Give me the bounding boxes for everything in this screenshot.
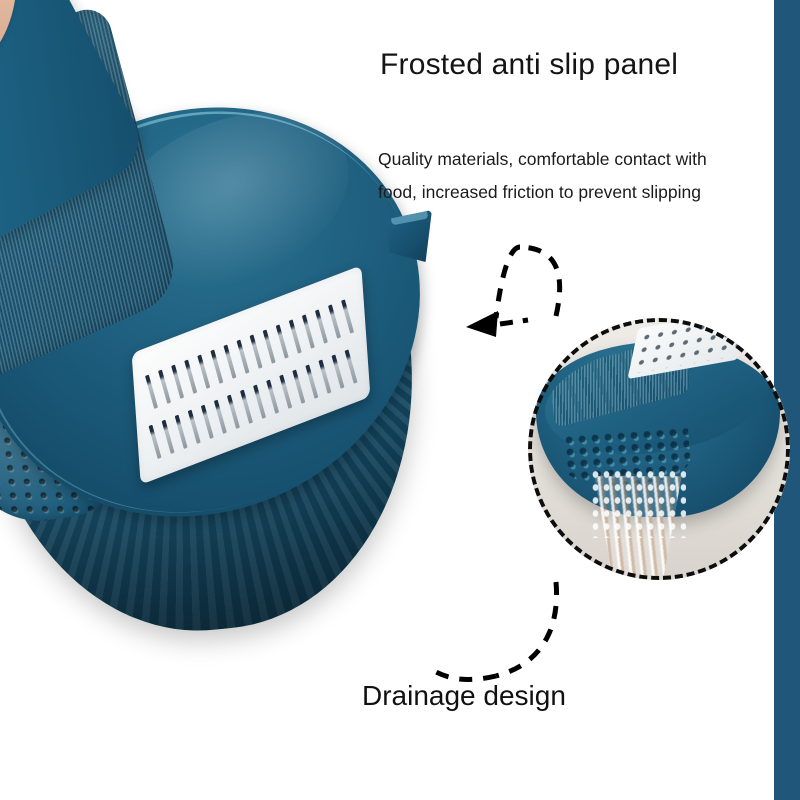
blade-pin xyxy=(158,370,171,404)
blade-pin xyxy=(315,309,328,343)
subtitle-line-2: food, increased friction to prevent slip… xyxy=(378,176,758,209)
blade-pin xyxy=(345,349,358,383)
blade-pin xyxy=(188,410,201,444)
blade-pin xyxy=(184,360,197,394)
blade-pin xyxy=(266,380,279,414)
blade-pin xyxy=(227,395,240,429)
blade-pin xyxy=(292,369,305,403)
blade-pin xyxy=(223,345,236,379)
blade-pin xyxy=(210,350,223,384)
blade-pin xyxy=(332,354,345,388)
blade-pin xyxy=(305,364,318,398)
blade-pin xyxy=(276,324,289,358)
blade-pin xyxy=(341,299,354,333)
page-subtitle: Quality materials, comfortable contact w… xyxy=(378,143,758,209)
blade-pin xyxy=(279,375,292,409)
callout-curve-top xyxy=(520,247,560,316)
blade-pin xyxy=(145,375,158,409)
drainage-closeup-inset xyxy=(528,318,790,580)
blade-pin xyxy=(197,355,210,389)
callout-curve-bottom xyxy=(496,582,557,676)
inset-dashed-ring xyxy=(528,318,790,580)
drainage-caption: Drainage design xyxy=(362,680,566,712)
arrow-tail xyxy=(500,320,528,324)
product-photo xyxy=(0,0,500,680)
subtitle-line-1: Quality materials, comfortable contact w… xyxy=(378,143,758,176)
blade-pin xyxy=(328,304,341,338)
blade-pin xyxy=(201,405,214,439)
blade-pin xyxy=(253,385,266,419)
product-infographic: Frosted anti slip panel Quality material… xyxy=(0,0,800,800)
page-title: Frosted anti slip panel xyxy=(380,48,678,82)
blade-pin xyxy=(162,420,175,454)
blade-pin xyxy=(250,334,263,368)
blade-pin xyxy=(240,390,253,424)
blade-pin xyxy=(289,319,302,353)
blade-pin xyxy=(171,365,184,399)
blade-pin xyxy=(318,359,331,393)
finger xyxy=(0,0,32,69)
hand-holding-product xyxy=(0,0,84,112)
blade-pin xyxy=(263,329,276,363)
blade-pin xyxy=(214,400,227,434)
blade-pin xyxy=(237,339,250,373)
blade-pin xyxy=(175,415,188,449)
blade-pin xyxy=(302,314,315,348)
blade-pin xyxy=(149,425,162,459)
